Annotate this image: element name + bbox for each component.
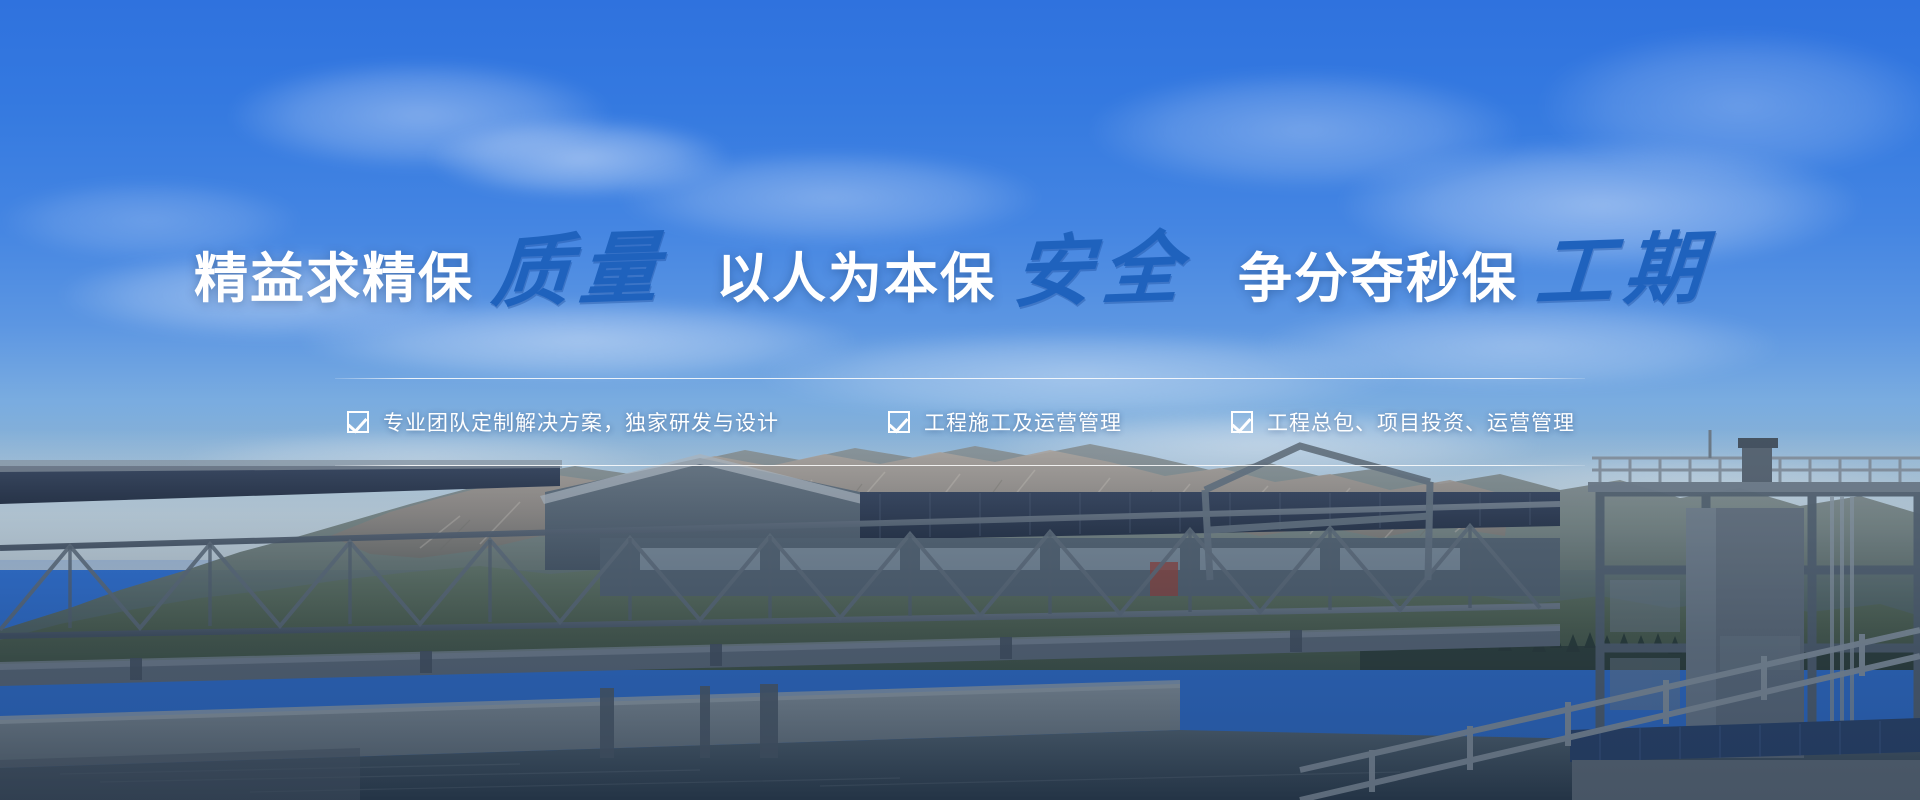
headline-brush-3: 工期 (1533, 229, 1715, 313)
feature-item-3[interactable]: 工程总包、项目投资、运营管理 (1231, 407, 1575, 437)
feature-label-3: 工程总包、项目投资、运营管理 (1267, 407, 1575, 437)
hero-banner: 精益求精保 质量 以人为本保 安全 争分夺秒保 工期 专业团队定制解决方案，独家… (0, 0, 1920, 800)
feature-label-2: 工程施工及运营管理 (924, 407, 1122, 437)
feature-list: 专业团队定制解决方案，独家研发与设计 工程施工及运营管理 工程总包、项目投资、运… (335, 379, 1585, 465)
divider-bottom (335, 465, 1585, 466)
headline-segment-3: 争分夺秒保 工期 (1238, 232, 1726, 310)
checkbox-check-icon (1231, 411, 1253, 433)
headline-brush-2: 安全 (1011, 229, 1193, 313)
headline-brush-1: 质量 (489, 229, 671, 313)
feature-item-2[interactable]: 工程施工及运营管理 (888, 407, 1122, 437)
banner-overlay: 精益求精保 质量 以人为本保 安全 争分夺秒保 工期 专业团队定制解决方案，独家… (0, 0, 1920, 800)
feature-item-1[interactable]: 专业团队定制解决方案，独家研发与设计 (347, 407, 779, 437)
headline-plain-2: 以人为本保 (716, 252, 996, 310)
checkbox-check-icon (888, 411, 910, 433)
banner-headline: 精益求精保 质量 以人为本保 安全 争分夺秒保 工期 (0, 232, 1920, 310)
checkbox-check-icon (347, 411, 369, 433)
headline-segment-2: 以人为本保 安全 (716, 232, 1204, 310)
headline-plain-1: 精益求精保 (194, 252, 474, 310)
features-block: 专业团队定制解决方案，独家研发与设计 工程施工及运营管理 工程总包、项目投资、运… (335, 378, 1585, 466)
feature-label-1: 专业团队定制解决方案，独家研发与设计 (383, 407, 779, 437)
headline-segment-1: 精益求精保 质量 (194, 232, 682, 310)
headline-plain-3: 争分夺秒保 (1238, 252, 1518, 310)
